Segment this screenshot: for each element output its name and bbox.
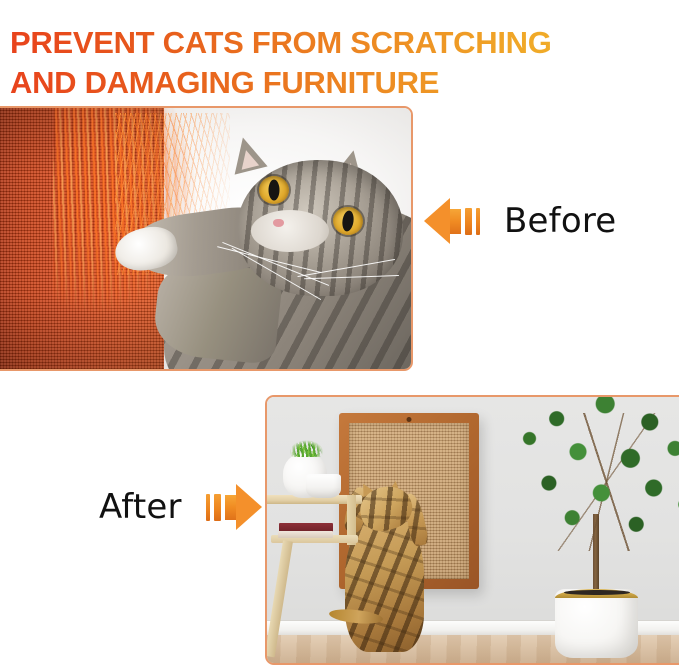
mounting-screw xyxy=(407,417,412,422)
before-scene xyxy=(0,108,411,369)
arrow-stem xyxy=(450,209,461,234)
arrow-left-head-and-stem xyxy=(424,198,461,244)
arrow-head xyxy=(424,198,450,244)
before-label: Before xyxy=(504,204,616,238)
white-bowl xyxy=(306,474,341,498)
tabby-cat-muzzle xyxy=(251,210,329,252)
before-photo xyxy=(0,106,413,371)
arrow-left-icon xyxy=(424,198,480,244)
before-callout: Before xyxy=(424,198,616,244)
arrow-motion-bar xyxy=(476,208,480,235)
ear-inner xyxy=(237,148,259,170)
arrow-stem xyxy=(225,495,236,520)
arrow-right-head-and-stem xyxy=(225,484,262,530)
page-title: Prevent cats from scratching and damagin… xyxy=(10,23,670,103)
arrow-head xyxy=(236,484,262,530)
ficus-tree-pot xyxy=(555,589,637,658)
ficus-tree-canopy xyxy=(514,397,679,554)
after-photo xyxy=(265,395,679,665)
arrow-motion-bar xyxy=(214,494,221,521)
tabby-cat-eye-left xyxy=(259,176,289,204)
after-scene xyxy=(267,397,679,663)
arrow-right-icon xyxy=(206,484,262,530)
arrow-motion-bar xyxy=(206,494,210,521)
after-callout: After xyxy=(99,484,262,530)
arrow-motion-bar xyxy=(465,208,472,235)
book-bottom xyxy=(278,531,334,538)
after-label: After xyxy=(99,490,182,524)
potted-plant xyxy=(290,436,323,457)
